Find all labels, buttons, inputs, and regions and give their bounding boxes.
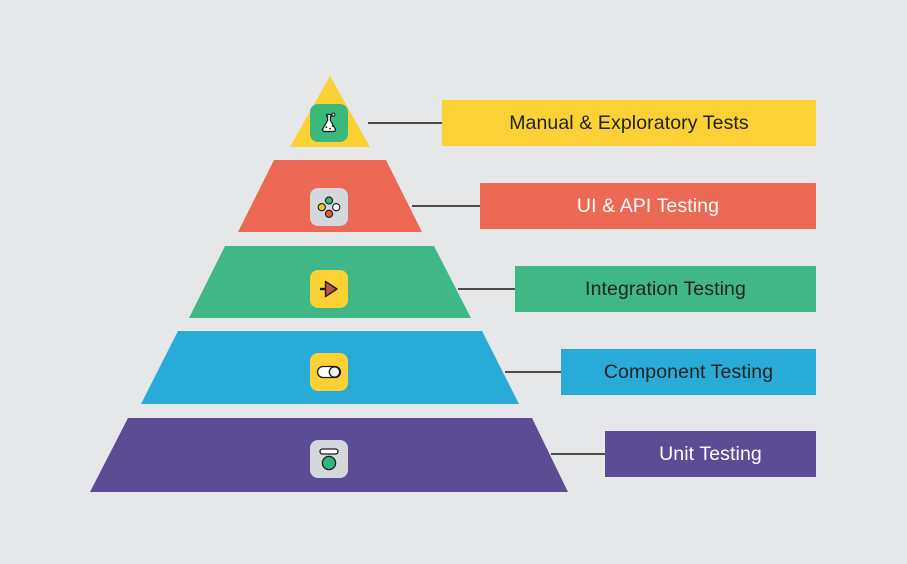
toggle-switch-icon [310,353,348,391]
label-text-component-testing: Component Testing [604,361,773,384]
flask-icon-glyph [316,110,342,136]
label-text-ui-api-testing: UI & API Testing [577,195,719,218]
play-arrow-icon-glyph [316,276,342,302]
label-box-ui-api-testing[interactable]: UI & API Testing [480,183,816,229]
push-button-icon [310,440,348,478]
label-box-unit-testing[interactable]: Unit Testing [605,431,816,477]
four-dots-icon [310,188,348,226]
testing-pyramid-diagram: Manual & Exploratory Tests UI & API Test… [0,0,907,564]
play-arrow-icon [310,270,348,308]
four-dots-icon-glyph [315,193,343,221]
toggle-switch-icon-glyph [314,357,344,387]
label-text-integration-testing: Integration Testing [585,278,746,301]
label-box-manual-exploratory-tests[interactable]: Manual & Exploratory Tests [442,100,816,146]
flask-icon [310,104,348,142]
label-text-manual-exploratory-tests: Manual & Exploratory Tests [509,112,749,135]
label-text-unit-testing: Unit Testing [659,443,762,466]
label-box-component-testing[interactable]: Component Testing [561,349,816,395]
push-button-icon-glyph [315,445,343,473]
label-box-integration-testing[interactable]: Integration Testing [515,266,816,312]
